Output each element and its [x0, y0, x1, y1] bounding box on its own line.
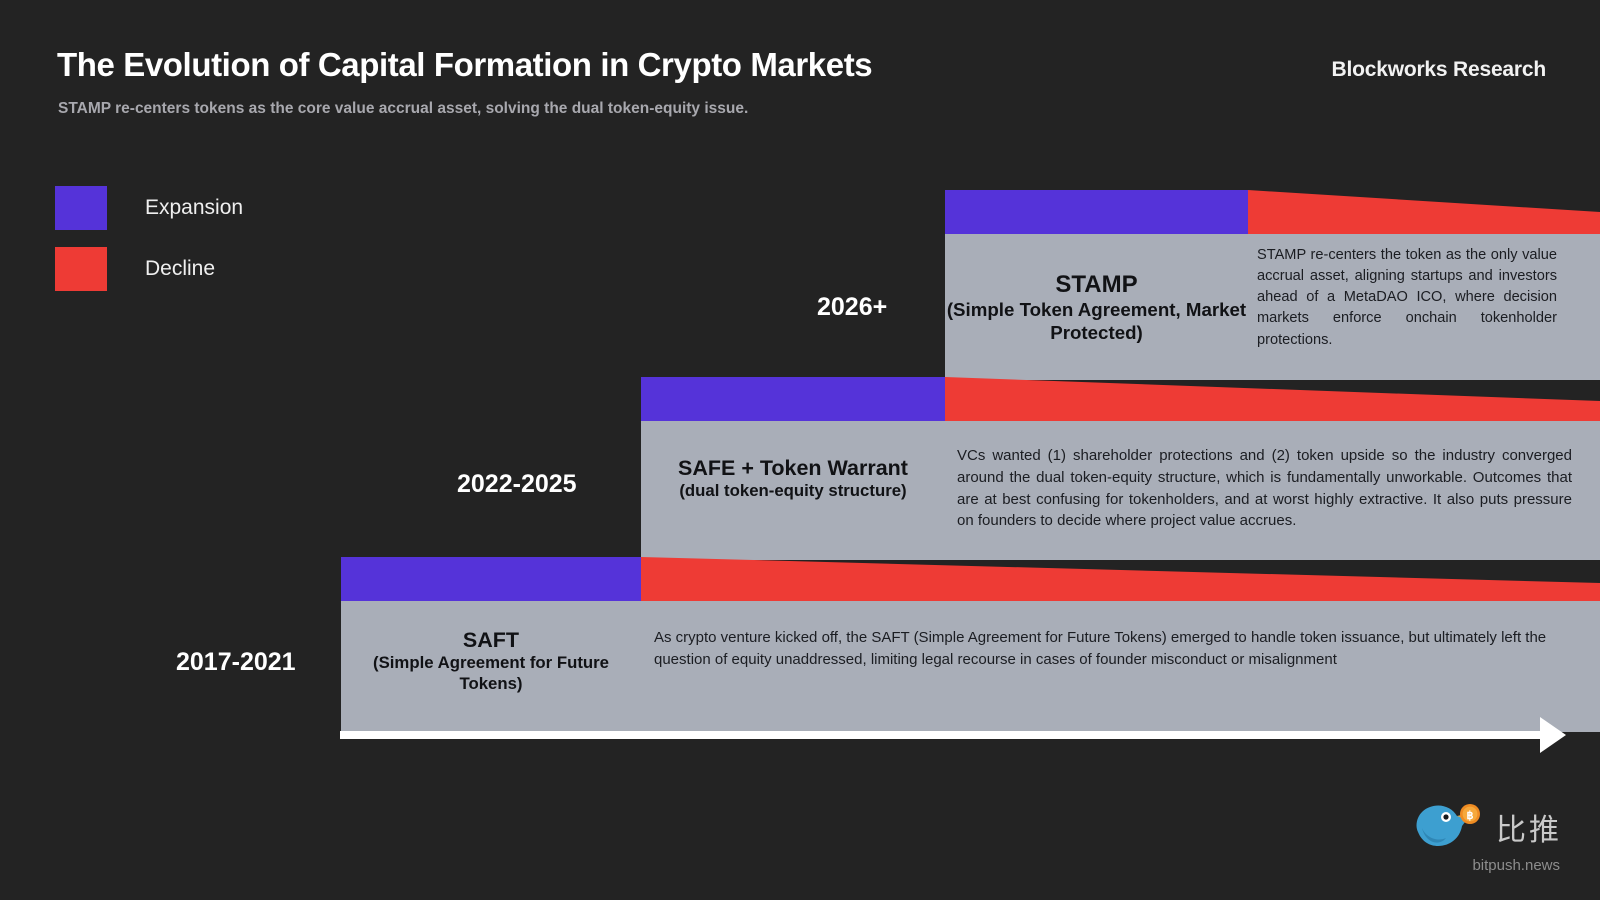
brand-label: Blockworks Research [1332, 58, 1546, 82]
tier-stamp-title: STAMP [1055, 271, 1137, 298]
tier-saft-description: As crypto venture kicked off, the SAFT (… [641, 601, 1559, 671]
tier-stamp: STAMP (Simple Token Agreement, Market Pr… [945, 190, 1600, 380]
tier-safe-description: VCs wanted (1) shareholder protections a… [945, 421, 1572, 532]
tier-stamp-description: STAMP re-centers the token as the only v… [1248, 234, 1557, 351]
tier-saft-panel: SAFT (Simple Agreement for Future Tokens… [341, 601, 1600, 732]
tier-safe: SAFE + Token Warrant (dual token-equity … [641, 377, 1600, 560]
watermark: ฿ 比推 bitpush.news [1342, 798, 1562, 878]
tier-safe-title: SAFE + Token Warrant [678, 456, 908, 480]
legend-label-expansion: Expansion [145, 196, 243, 220]
legend: Expansion Decline [55, 186, 243, 308]
infographic-canvas: The Evolution of Capital Formation in Cr… [0, 0, 1600, 900]
legend-label-decline: Decline [145, 257, 215, 281]
legend-item-expansion: Expansion [55, 186, 243, 230]
legend-swatch-expansion [55, 186, 107, 230]
tier-stamp-decline-wedge [1248, 190, 1600, 236]
tier-stamp-heading: STAMP (Simple Token Agreement, Market Pr… [945, 234, 1248, 345]
year-label-2017-2021: 2017-2021 [176, 648, 296, 677]
tier-safe-heading: SAFE + Token Warrant (dual token-equity … [641, 421, 945, 502]
legend-item-decline: Decline [55, 247, 243, 291]
tier-saft-subtitle: (Simple Agreement for Future Tokens) [341, 653, 641, 694]
page-title: The Evolution of Capital Formation in Cr… [57, 46, 872, 84]
tier-saft-heading: SAFT (Simple Agreement for Future Tokens… [341, 601, 641, 694]
svg-text:฿: ฿ [1467, 810, 1474, 822]
year-label-2022-2025: 2022-2025 [457, 470, 577, 499]
tier-stamp-expansion-bar [945, 190, 1248, 234]
timeline-axis [340, 731, 1556, 739]
tier-stamp-subtitle: (Simple Token Agreement, Market Protecte… [945, 299, 1248, 345]
timeline-arrow-icon [1540, 717, 1566, 753]
tier-saft-decline-wedge [641, 557, 1600, 603]
watermark-row: ฿ 比推 [1342, 798, 1562, 855]
page-subtitle: STAMP re-centers tokens as the core valu… [58, 100, 748, 118]
watermark-url: bitpush.news [1342, 857, 1560, 874]
legend-swatch-decline [55, 247, 107, 291]
tier-safe-decline-wedge [945, 377, 1600, 423]
tier-safe-subtitle: (dual token-equity structure) [641, 481, 945, 501]
tier-safe-panel: SAFE + Token Warrant (dual token-equity … [641, 421, 1600, 560]
tier-saft-title: SAFT [463, 628, 519, 652]
year-label-2026: 2026+ [817, 293, 887, 322]
watermark-cn-label: 比推 [1496, 805, 1562, 849]
bird-icon: ฿ [1412, 798, 1486, 855]
tier-stamp-panel: STAMP (Simple Token Agreement, Market Pr… [945, 234, 1600, 380]
tier-safe-expansion-bar [641, 377, 945, 421]
tier-saft: SAFT (Simple Agreement for Future Tokens… [341, 557, 1600, 732]
tier-saft-expansion-bar [341, 557, 641, 601]
